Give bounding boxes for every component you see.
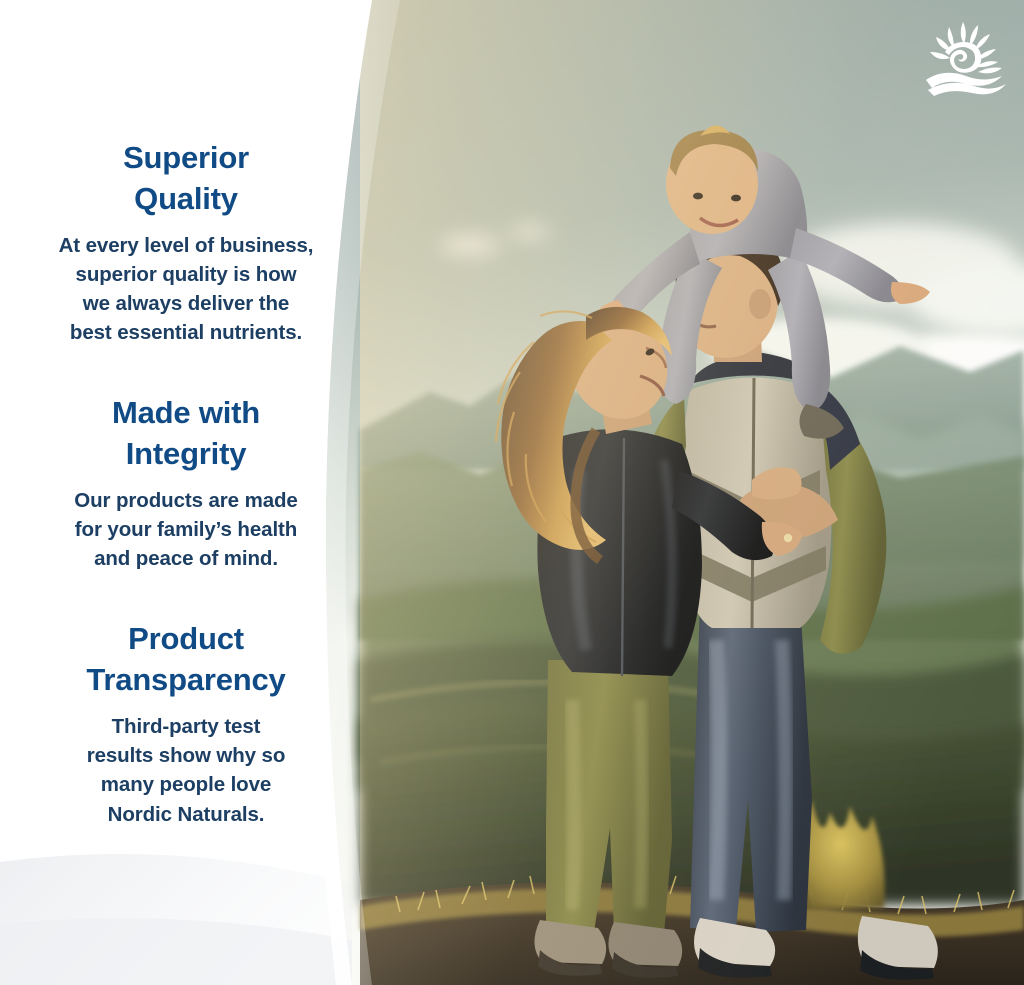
nordic-naturals-sun-wave-logo-icon	[918, 18, 1010, 100]
value-prop-heading: Product Transparency	[12, 619, 360, 701]
value-prop-heading: Made with Integrity	[12, 393, 360, 475]
promo-graphic: Superior Quality At every level of busin…	[0, 0, 1024, 985]
value-prop-superior-quality: Superior Quality At every level of busin…	[0, 138, 360, 347]
value-prop-heading: Superior Quality	[12, 138, 360, 220]
value-props-column: Superior Quality At every level of busin…	[0, 0, 400, 985]
value-prop-made-with-integrity: Made with Integrity Our products are mad…	[0, 393, 360, 573]
value-prop-body: At every level of business, superior qua…	[12, 231, 360, 347]
value-prop-product-transparency: Product Transparency Third-party test re…	[0, 619, 360, 828]
value-prop-body: Our products are made for your family’s …	[12, 486, 360, 573]
value-prop-body: Third-party test results show why so man…	[12, 712, 360, 828]
